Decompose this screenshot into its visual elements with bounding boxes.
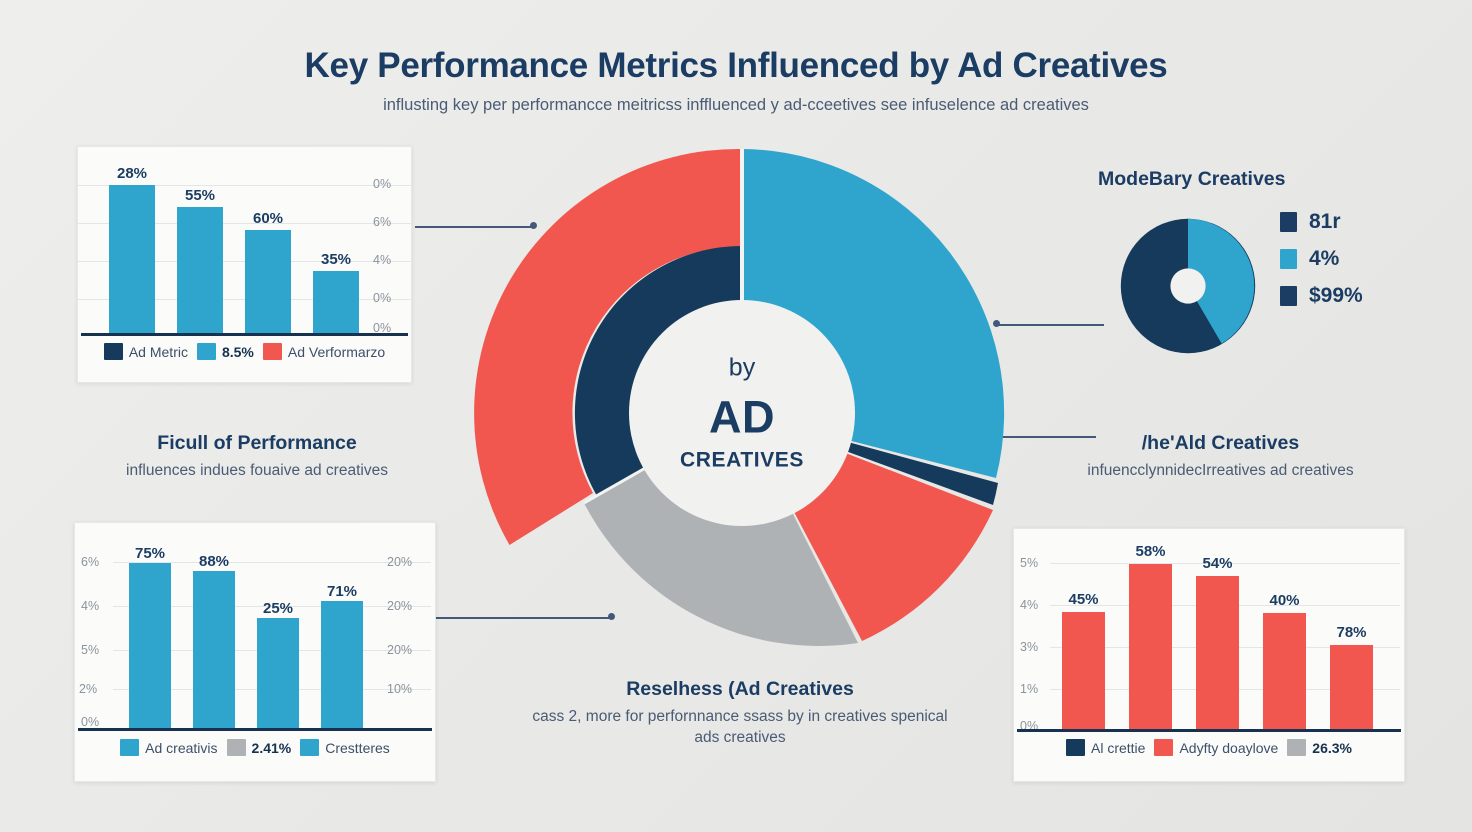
legend-label: Adyfty doaylove: [1179, 740, 1278, 756]
bar[interactable]: [257, 618, 299, 728]
legend-label: $99%: [1309, 284, 1363, 308]
bar[interactable]: [129, 563, 171, 728]
bar[interactable]: [177, 207, 223, 333]
bar-value-label: 55%: [177, 187, 223, 204]
mini-pie-chart[interactable]: [1108, 206, 1268, 366]
bottom-right-chart-legend: Al crettie Adyfty doaylove 26.3%: [1022, 739, 1396, 756]
bar-value-label: 78%: [1330, 624, 1373, 641]
legend-label: Ad creativis: [145, 740, 217, 756]
donut-chart[interactable]: by AD CREATIVES: [462, 133, 1022, 693]
page-title: Key Performance Metrics Influenced by Ad…: [0, 46, 1472, 86]
legend-swatch-icon: [197, 343, 216, 360]
legend-item[interactable]: Al crettie: [1066, 739, 1145, 756]
legend-swatch-icon: [1287, 739, 1306, 756]
legend-item[interactable]: 4%: [1280, 247, 1363, 271]
bar-value-label: 75%: [129, 545, 171, 562]
bottom-left-chart-legend: Ad creativis 2.41% Crestteres: [83, 739, 427, 756]
legend-label: Ad Metric: [129, 344, 188, 360]
bar[interactable]: [1062, 612, 1105, 729]
bar-value-label: 40%: [1263, 592, 1306, 609]
legend-label: 26.3%: [1312, 740, 1352, 756]
legend-swatch-icon: [1280, 286, 1297, 306]
bar[interactable]: [1263, 613, 1306, 729]
donut-center-line-3: CREATIVES: [680, 450, 804, 471]
bottom-center-heading: Reselhess (Ad Creatives: [520, 678, 960, 701]
bar[interactable]: [1330, 645, 1373, 729]
legend-label: Crestteres: [325, 740, 390, 756]
legend-item[interactable]: $99%: [1280, 284, 1363, 308]
legend-label: 2.41%: [252, 740, 292, 756]
mini-pie-section: ModeBary Creatives 81r 4% $99%: [1090, 168, 1400, 368]
legend-item[interactable]: 26.3%: [1287, 739, 1352, 756]
legend-item[interactable]: Ad creativis: [120, 739, 217, 756]
mini-pie-legend: 81r 4% $99%: [1280, 210, 1363, 308]
bar-value-label: 45%: [1062, 591, 1105, 608]
bottom-right-bar-chart-card[interactable]: 5% 4% 3% 1% 0% 45% 58% 54% 40% 78% Al cr…: [1013, 528, 1405, 782]
bar-value-label: 25%: [257, 600, 299, 617]
legend-label: 81r: [1309, 210, 1341, 234]
mid-right-body: infuencclynnidecIrreatives ad creatives: [1078, 460, 1363, 481]
top-left-chart-legend: Ad Metric 8.5% Ad Verformarzo: [86, 343, 403, 360]
bottom-center-body: cass 2, more for perfornnance ssass by i…: [520, 706, 960, 748]
mid-left-body: influences indues fouaive ad creatives: [92, 460, 422, 481]
donut-center-line-1: by: [729, 356, 755, 381]
legend-swatch-icon: [1280, 212, 1297, 232]
bar[interactable]: [1129, 564, 1172, 729]
pie-hole: [1170, 268, 1205, 303]
x-axis: [1017, 729, 1401, 732]
bar-value-label: 88%: [193, 553, 235, 570]
bar[interactable]: [321, 601, 363, 728]
mini-pie-heading: ModeBary Creatives: [1098, 168, 1286, 191]
legend-swatch-icon: [1154, 739, 1173, 756]
bar-value-label: 28%: [109, 165, 155, 182]
legend-swatch-icon: [227, 739, 246, 756]
legend-swatch-icon: [1066, 739, 1085, 756]
legend-item[interactable]: 8.5%: [197, 343, 254, 360]
legend-swatch-icon: [300, 739, 319, 756]
legend-label: 8.5%: [222, 344, 254, 360]
x-axis: [78, 728, 432, 731]
bar[interactable]: [109, 185, 155, 333]
bar-value-label: 60%: [245, 210, 291, 227]
bottom-center-text-block: Reselhess (Ad Creatives cass 2, more for…: [520, 678, 960, 748]
legend-swatch-icon: [263, 343, 282, 360]
legend-label: 4%: [1309, 247, 1339, 271]
mid-right-heading: /he'Ald Creatives: [1078, 432, 1363, 455]
legend-swatch-icon: [104, 343, 123, 360]
infographic-canvas: Key Performance Metrics Influenced by Ad…: [0, 0, 1472, 832]
bar-value-label: 35%: [313, 251, 359, 268]
legend-item[interactable]: Ad Verformarzo: [263, 343, 385, 360]
legend-label: Al crettie: [1091, 740, 1145, 756]
donut-center-line-2: AD: [709, 395, 775, 440]
bar[interactable]: [1196, 576, 1239, 729]
bar-value-label: 71%: [321, 583, 363, 600]
bar[interactable]: [313, 271, 359, 333]
legend-item[interactable]: 2.41%: [227, 739, 292, 756]
legend-swatch-icon: [120, 739, 139, 756]
top-left-bar-chart-card[interactable]: 0% 6% 4% 0% 0% 28% 55% 60% 35% Ad Metric: [77, 146, 412, 383]
x-axis: [81, 333, 408, 336]
bar-value-label: 58%: [1129, 543, 1172, 560]
legend-item[interactable]: Ad Metric: [104, 343, 188, 360]
bar[interactable]: [193, 571, 235, 728]
bottom-left-bar-chart-card[interactable]: 6% 4% 5% 2% 0% 20% 20% 20% 10% 75% 88% 2…: [74, 522, 436, 782]
legend-label: Ad Verformarzo: [288, 344, 385, 360]
legend-item[interactable]: 81r: [1280, 210, 1363, 234]
legend-item[interactable]: Crestteres: [300, 739, 390, 756]
mid-left-text-block: Ficull of Performance influences indues …: [92, 432, 422, 481]
page-subtitle: influsting key per performancce meitrics…: [0, 96, 1472, 115]
donut-center-label: by AD CREATIVES: [630, 301, 855, 526]
mid-right-text-block: /he'Ald Creatives infuencclynnidecIrreat…: [1078, 432, 1363, 481]
legend-swatch-icon: [1280, 249, 1297, 269]
bar-value-label: 54%: [1196, 555, 1239, 572]
mid-left-heading: Ficull of Performance: [92, 432, 422, 455]
bar[interactable]: [245, 230, 291, 333]
legend-item[interactable]: Adyfty doaylove: [1154, 739, 1278, 756]
